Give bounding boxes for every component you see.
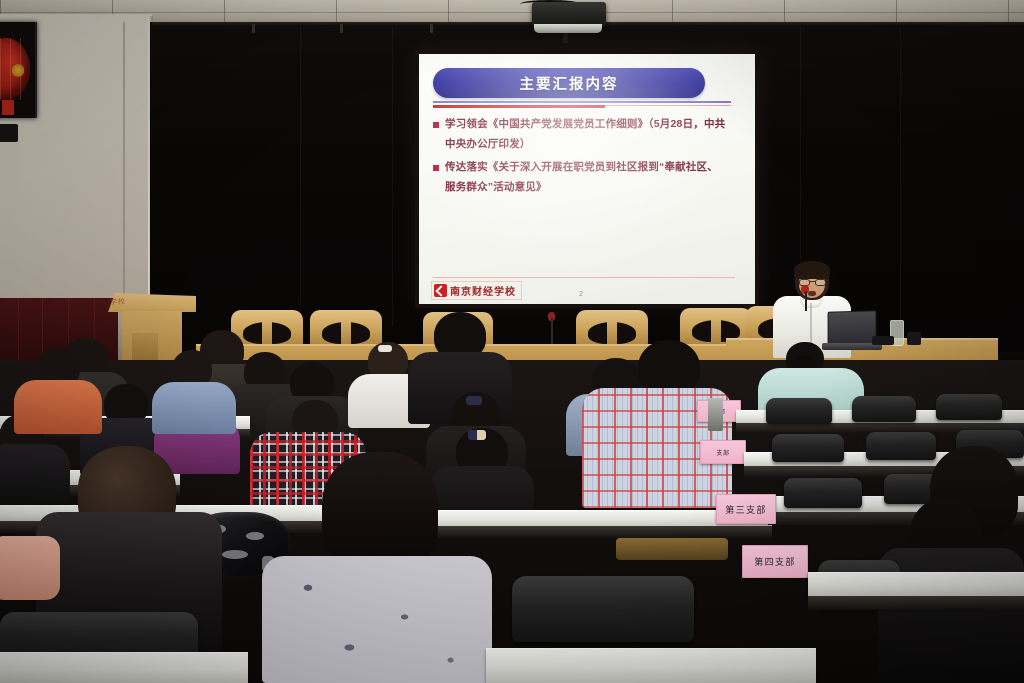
audience-chair xyxy=(866,432,936,460)
projector-lens-icon xyxy=(534,24,602,33)
slide-footer-rule xyxy=(433,277,735,278)
bullet-square-icon xyxy=(433,165,439,171)
audience-body xyxy=(14,380,102,434)
hair-clip-icon xyxy=(378,345,392,352)
slide-bullet-list: 学习领会《中国共产党发展党员工作细则》（5月28日，中共 中央办公厅印发） 传达… xyxy=(433,116,739,196)
branch-placard-text: 第四支部 xyxy=(754,555,796,568)
desk-object xyxy=(872,336,894,345)
audience-body xyxy=(0,444,70,500)
audience-body xyxy=(152,382,236,434)
conference-room-photo: 主要汇报内容 学习领会《中国共产党发展党员工作细则》（5月28日，中共 中央办公… xyxy=(0,0,1024,683)
projection-screen: 主要汇报内容 学习领会《中国共产党发展党员工作细则》（5月28日，中共 中央办公… xyxy=(419,54,755,304)
audience-body xyxy=(262,556,492,683)
slide-title: 主要汇报内容 xyxy=(520,73,619,94)
audience-chair xyxy=(784,478,862,508)
bullet-square-icon xyxy=(433,122,439,128)
branch-placard-text: 支部 xyxy=(716,448,729,457)
bullet-text-continuation: 服务群众”活动意见》 xyxy=(433,179,739,196)
audience-body xyxy=(878,548,1024,683)
thermos-bottle-icon xyxy=(708,398,723,431)
logo-mark-icon xyxy=(434,284,447,297)
lantern-gold-character xyxy=(12,64,24,77)
presenter-microphone-stand xyxy=(805,291,807,311)
hair-clip-icon xyxy=(466,396,482,405)
desk-underside xyxy=(412,526,772,538)
audience-chair xyxy=(852,396,916,422)
bullet-text-continuation: 中央办公厅印发） xyxy=(433,136,739,153)
bullet-text-line: 学习领会《中国共产党发展党员工作细则》（5月28日，中共 xyxy=(445,116,725,133)
desk-underside xyxy=(808,596,1024,610)
lantern-tassel-tag xyxy=(2,100,14,115)
slide-rule-red-faint xyxy=(605,105,731,106)
speaker-mouth xyxy=(808,291,816,296)
audience-chair xyxy=(766,398,832,424)
wall-speaker-box xyxy=(0,124,18,142)
branch-placard: 支部 xyxy=(700,440,746,464)
glasses-bridge xyxy=(810,281,815,282)
lectern-engraved-text: 学校 xyxy=(110,297,127,308)
audience-head xyxy=(322,452,438,570)
bullet-text-line: 传达落实《关于深入开展在职党员到社区报到“奉献社区、 xyxy=(445,159,718,176)
audience-body xyxy=(0,536,60,600)
branch-placard-text: 第三支部 xyxy=(725,503,767,516)
desk-object xyxy=(616,538,728,560)
laptop-icon xyxy=(828,310,877,346)
audience-desk xyxy=(808,572,1024,596)
branch-placard: 第四支部 xyxy=(742,545,808,578)
branch-placard: 第三支部 xyxy=(716,494,776,524)
audience-chair xyxy=(772,434,844,462)
audience-chair xyxy=(936,394,1002,420)
slide-bullet-item: 传达落实《关于深入开展在职党员到社区报到“奉献社区、 xyxy=(433,159,739,176)
slide-page-number: 2 xyxy=(579,291,583,298)
slide-bullet-item: 学习领会《中国共产党发展党员工作细则》（5月28日，中共 xyxy=(433,116,739,133)
slide-logo-text: 南京财经学校 xyxy=(450,283,516,298)
audience-desk xyxy=(486,648,816,683)
projector-ceiling-mount xyxy=(563,33,568,43)
slide-school-logo: 南京财经学校 xyxy=(431,281,522,300)
slide-title-bar: 主要汇报内容 xyxy=(433,68,705,98)
desk-object xyxy=(907,332,921,345)
speaker-hair xyxy=(794,261,830,279)
audience-chair xyxy=(512,576,694,642)
projection-screen-frame: 主要汇报内容 学习领会《中国共产党发展党员工作细则》（5月28日，中共 中央办公… xyxy=(415,50,759,308)
slide-rule-blue xyxy=(433,101,731,103)
hair-bow-icon xyxy=(468,430,486,440)
slide-rule-red xyxy=(433,105,605,108)
glasses-icon xyxy=(815,279,826,286)
audience-desk xyxy=(0,652,248,683)
